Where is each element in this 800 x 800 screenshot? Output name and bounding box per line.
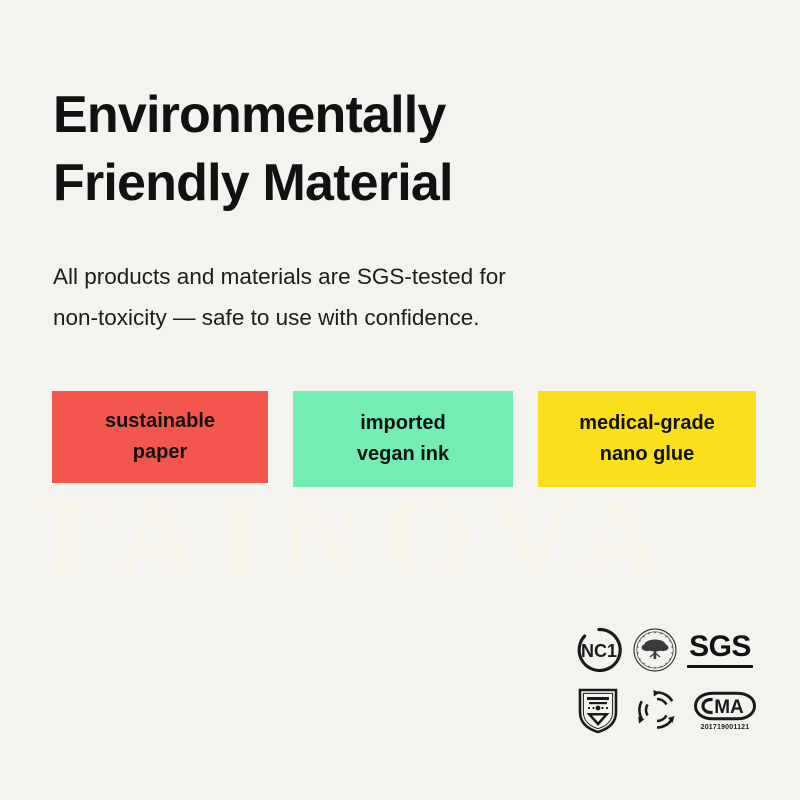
svg-text:NC1: NC1 — [581, 641, 617, 661]
svg-text:MA: MA — [714, 697, 744, 718]
material-badge-line-1: medical-grade — [579, 408, 715, 439]
sgs-certification-logo: SGS — [687, 632, 753, 668]
material-badge-group: sustainable paper imported vegan ink med… — [52, 391, 756, 487]
nc1-certification-logo: NC1 — [575, 626, 623, 674]
sgs-wordmark: SGS — [689, 632, 751, 662]
page-subtitle-line-1: All products and materials are SGS-teste… — [53, 256, 673, 298]
brand-watermark: TAINOVA — [28, 480, 788, 598]
certification-logo-group: NC1 — [575, 620, 780, 740]
tree-seal-certification-logo — [631, 626, 679, 674]
sgs-underline — [687, 665, 753, 668]
page-subtitle-line-2: non-toxicity — safe to use with confiden… — [53, 297, 673, 339]
poster-canvas: TAINOVA Environmentally Friendly Materia… — [0, 0, 800, 800]
material-badge-line-2: nano glue — [600, 439, 694, 470]
page-title-line-1: Environmentally — [53, 81, 693, 150]
material-badge-imported-vegan-ink: imported vegan ink — [293, 391, 513, 487]
recycle-certification-logo — [633, 686, 681, 734]
certification-logo-row-top: NC1 — [575, 620, 780, 680]
material-badge-line-1: sustainable — [105, 406, 215, 437]
material-badge-line-2: paper — [133, 437, 187, 468]
material-badge-line-2: vegan ink — [357, 439, 449, 470]
shield-certification-logo — [575, 685, 621, 735]
page-subtitle: All products and materials are SGS-teste… — [53, 256, 673, 339]
certification-logo-row-bottom: MA 201719001121 — [575, 680, 780, 740]
material-badge-sustainable-paper: sustainable paper — [52, 391, 268, 483]
material-badge-medical-grade-nano-glue: medical-grade nano glue — [538, 391, 756, 487]
cma-certification-logo: MA 201719001121 — [693, 690, 757, 731]
material-badge-line-1: imported — [360, 408, 446, 439]
cma-certificate-number: 201719001121 — [701, 724, 750, 731]
page-title-line-2: Friendly Material — [53, 149, 693, 218]
page-title: Environmentally Friendly Material — [53, 81, 693, 218]
